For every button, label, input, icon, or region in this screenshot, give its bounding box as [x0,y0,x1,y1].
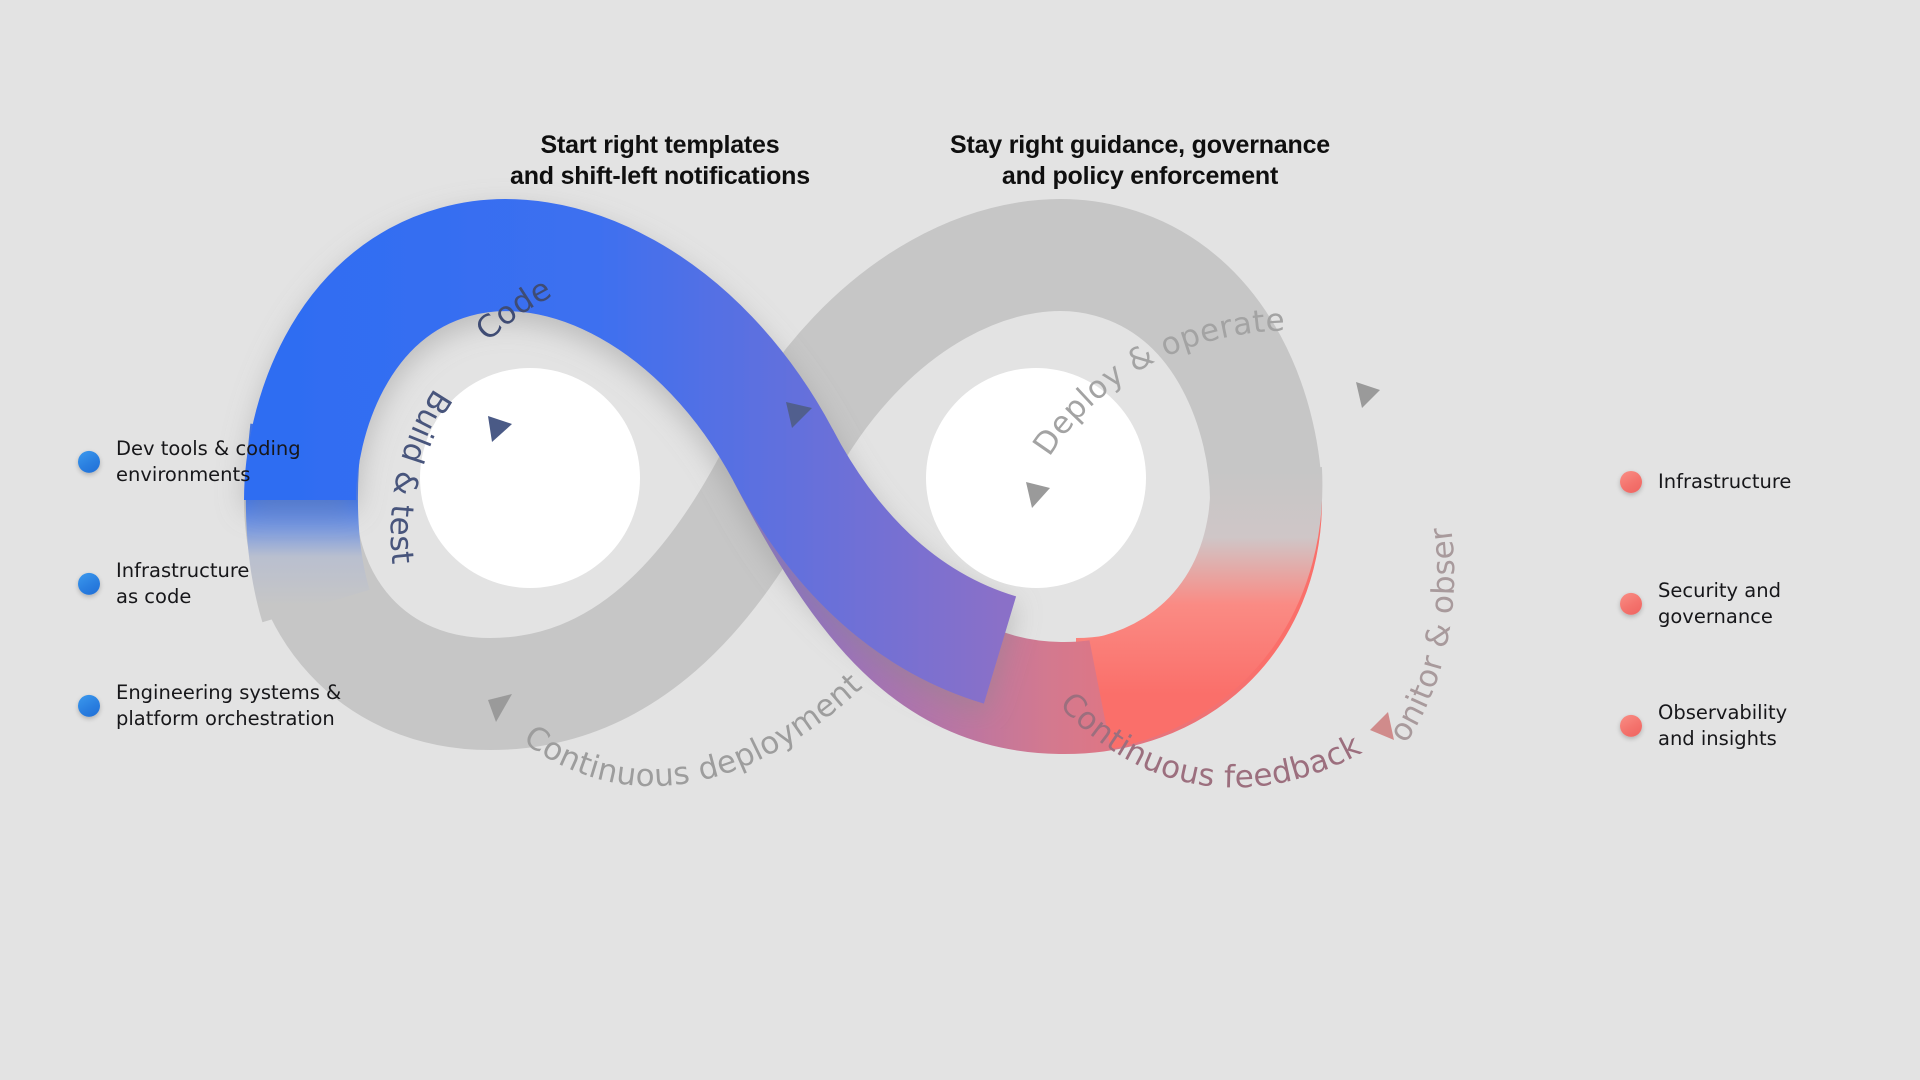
bullet-dot-icon [1620,593,1642,615]
bullet-dot-icon [1620,715,1642,737]
list-item[interactable]: Infrastructure as code [78,558,249,610]
list-item[interactable]: Infrastructure [1620,469,1791,495]
list-item[interactable]: Engineering systems & platform orchestra… [78,680,341,732]
list-item-label: Engineering systems & platform orchestra… [116,680,341,732]
list-item-label: Dev tools & coding environments [116,436,301,488]
bullet-dot-icon [78,451,100,473]
bullet-dot-icon [78,573,100,595]
list-item-label: Infrastructure [1658,469,1791,495]
list-item-label: Security and governance [1658,578,1781,630]
list-item[interactable]: Security and governance [1620,578,1781,630]
bullet-dot-icon [1620,471,1642,493]
list-item[interactable]: Dev tools & coding environments [78,436,301,488]
heading-stay-right: Stay right guidance, governance and poli… [820,130,1460,192]
list-item-label: Infrastructure as code [116,558,249,610]
diagram-canvas: Code Build & test Continuous deployment … [0,0,1920,1080]
bullet-dot-icon [78,695,100,717]
list-item[interactable]: Observability and insights [1620,700,1787,752]
right-loop-hole [926,368,1146,588]
list-item-label: Observability and insights [1658,700,1787,752]
